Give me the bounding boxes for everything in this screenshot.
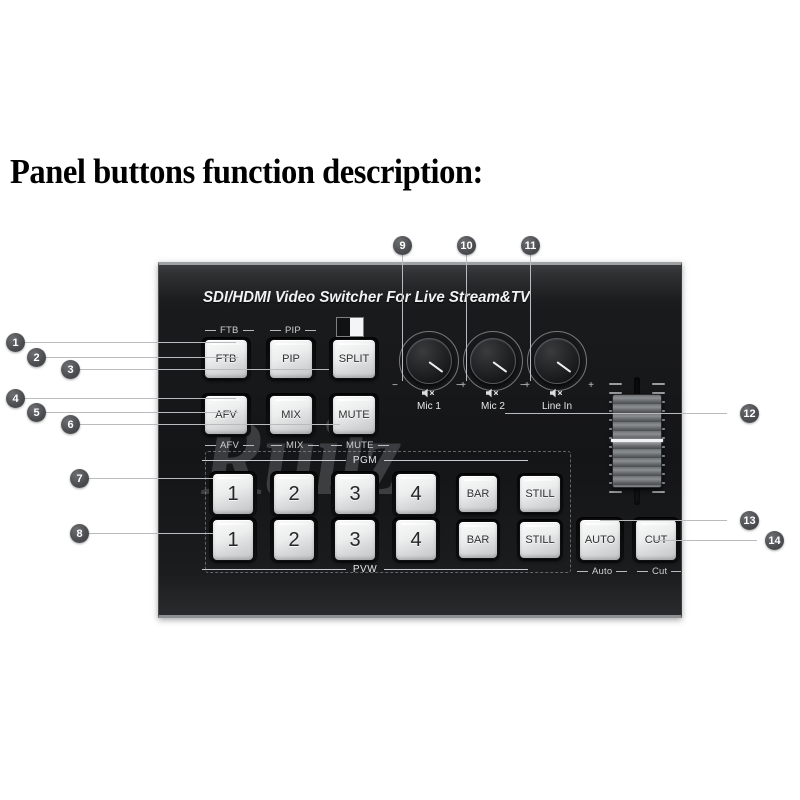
knob-minus-label: − [392,381,398,391]
callout-10-badge: 10 [457,236,476,255]
pvw-source-1[interactable]: 1 [212,519,254,561]
mute-button[interactable]: MUTE [332,395,376,435]
speaker-mute-icon [421,387,437,399]
speaker-mute-icon [485,387,501,399]
pvw-source-4[interactable]: 4 [395,519,437,561]
page-title: Panel buttons function description: [10,152,483,192]
knob-plus-label: + [588,381,594,391]
callout-8-leader [88,533,213,534]
cut-caption: Cut [637,566,682,577]
callout-5-badge: 5 [27,403,46,422]
callout-9-badge: 9 [393,236,412,255]
pgm-bus-title: PGM [159,455,571,466]
pvw-bar-label: BAR [467,534,490,546]
afv-button[interactable]: AFV [204,395,248,435]
callout-2-badge: 2 [27,348,46,367]
pgm-source-3[interactable]: 3 [334,473,376,515]
pgm-source-1[interactable]: 1 [212,473,254,515]
fader-handle[interactable] [612,394,662,488]
knob-body[interactable] [470,338,516,384]
pgm-still-button[interactable]: STILL [519,475,561,513]
pgm-source-4[interactable]: 4 [395,473,437,515]
cut-caption-text: Cut [652,566,667,577]
knob-minus-label: − [456,381,462,391]
callout-14-badge: 14 [765,531,784,550]
pvw-still-button[interactable]: STILL [519,521,561,559]
callout-11-leader [530,253,531,381]
callout-7-badge: 7 [70,469,89,488]
t-bar-fader[interactable] [611,377,663,505]
pip-caption: PIP [270,325,316,336]
callout-3-leader [79,369,329,370]
callout-12-leader [505,413,727,414]
pgm-source-3-label: 3 [349,483,360,506]
split-icon-left-half [337,318,350,336]
pvw-source-1-label: 1 [227,529,238,552]
knob-pointer [492,361,507,373]
mic2-knob[interactable]: − + Mic 2 [456,329,530,415]
pvw-source-3-label: 3 [349,529,360,552]
pgm-source-2-label: 2 [288,483,299,506]
callout-2-leader [45,357,238,358]
pvw-rule-right [384,569,528,570]
knob-body[interactable] [406,338,452,384]
caption-dash-right [378,445,389,446]
caption-dash-right [243,330,254,331]
mic1-knob-label: Mic 1 [417,401,441,412]
device-brand-text: SDI/HDMI Video Switcher For Live Stream&… [203,289,530,307]
caption-dash-right [305,330,316,331]
caption-dash-left [205,445,216,446]
mic2-knob-label: Mic 2 [481,401,505,412]
pgm-source-4-label: 4 [410,483,421,506]
caption-dash-left [331,445,342,446]
auto-button-label: AUTO [585,534,615,546]
pgm-source-1-label: 1 [227,483,238,506]
mix-button[interactable]: MIX [269,395,313,435]
caption-dash-left [205,330,216,331]
callout-13-leader [600,520,727,521]
linein-knob-label: Line In [542,401,572,412]
split-icon-right-half [350,318,363,336]
callout-6-badge: 6 [61,415,80,434]
knob-body[interactable] [534,338,580,384]
afv-button-label: AFV [215,409,236,421]
callout-4-leader [24,398,236,399]
caption-dash-left [577,571,588,572]
pip-button[interactable]: PIP [269,339,313,379]
pgm-rule-left [202,460,346,461]
caption-dash-left [271,445,282,446]
mute-button-label: MUTE [338,409,369,421]
pgm-bar-label: BAR [467,488,490,500]
pvw-bar-button[interactable]: BAR [458,521,498,559]
callout-3-badge: 3 [61,360,80,379]
callout-1-badge: 1 [6,333,25,352]
fader-position-mark [611,439,663,442]
knob-pointer [556,361,571,373]
afv-caption-text: AFV [220,440,239,451]
page-root: Panel buttons function description: SDI/… [0,0,800,800]
mix-button-label: MIX [281,409,301,421]
pip-caption-text: PIP [285,325,301,336]
mic1-knob[interactable]: − + Mic 1 [392,329,466,415]
afv-caption: AFV [205,440,254,451]
pgm-source-2[interactable]: 2 [273,473,315,515]
callout-6-leader [79,424,340,425]
mix-caption: MIX [271,440,319,451]
pvw-still-label: STILL [525,534,554,546]
mix-caption-text: MIX [286,440,304,451]
ftb-caption: FTB [205,325,254,336]
pip-button-label: PIP [282,353,300,365]
pgm-still-label: STILL [525,488,554,500]
callout-4-badge: 4 [6,389,25,408]
caption-dash-right [616,571,627,572]
ftb-button[interactable]: FTB [204,339,248,379]
linein-knob[interactable]: − + Line In [520,329,594,415]
callout-13-badge: 13 [740,511,759,530]
pgm-label: PGM [353,455,377,466]
mute-caption-text: MUTE [346,440,374,451]
knob-minus-label: − [520,381,526,391]
caption-dash-right [243,445,254,446]
auto-button[interactable]: AUTO [579,519,621,561]
callout-7-leader [88,478,213,479]
caption-dash-left [270,330,281,331]
caption-dash-right [671,571,682,572]
caption-dash-left [637,571,648,572]
mute-caption: MUTE [331,440,389,451]
callout-1-leader [24,342,236,343]
split-button[interactable]: SPLIT [332,339,376,379]
ftb-button-label: FTB [216,353,237,365]
callout-12-badge: 12 [740,404,759,423]
split-button-label: SPLIT [339,353,370,365]
split-screen-icon [336,317,364,337]
pvw-rule-left [202,569,346,570]
pgm-rule-right [384,460,528,461]
callout-8-badge: 8 [70,524,89,543]
callout-14-leader [655,540,757,541]
speaker-mute-icon [549,387,565,399]
auto-caption-text: Auto [592,566,612,577]
ftb-caption-text: FTB [220,325,239,336]
video-switcher-panel: SDI/HDMI Video Switcher For Live Stream&… [158,262,682,618]
callout-9-leader [402,253,403,381]
pgm-bar-button[interactable]: BAR [458,475,498,513]
auto-caption: Auto [577,566,627,577]
pvw-bus-title: PVW [159,564,571,575]
callout-5-leader [45,412,238,413]
pvw-source-3[interactable]: 3 [334,519,376,561]
callout-11-badge: 11 [521,236,540,255]
pvw-source-2[interactable]: 2 [273,519,315,561]
callout-10-leader [466,253,467,381]
knob-pointer [428,361,443,373]
pvw-source-2-label: 2 [288,529,299,552]
caption-dash-right [308,445,319,446]
pvw-source-4-label: 4 [410,529,421,552]
pvw-label: PVW [353,564,377,575]
